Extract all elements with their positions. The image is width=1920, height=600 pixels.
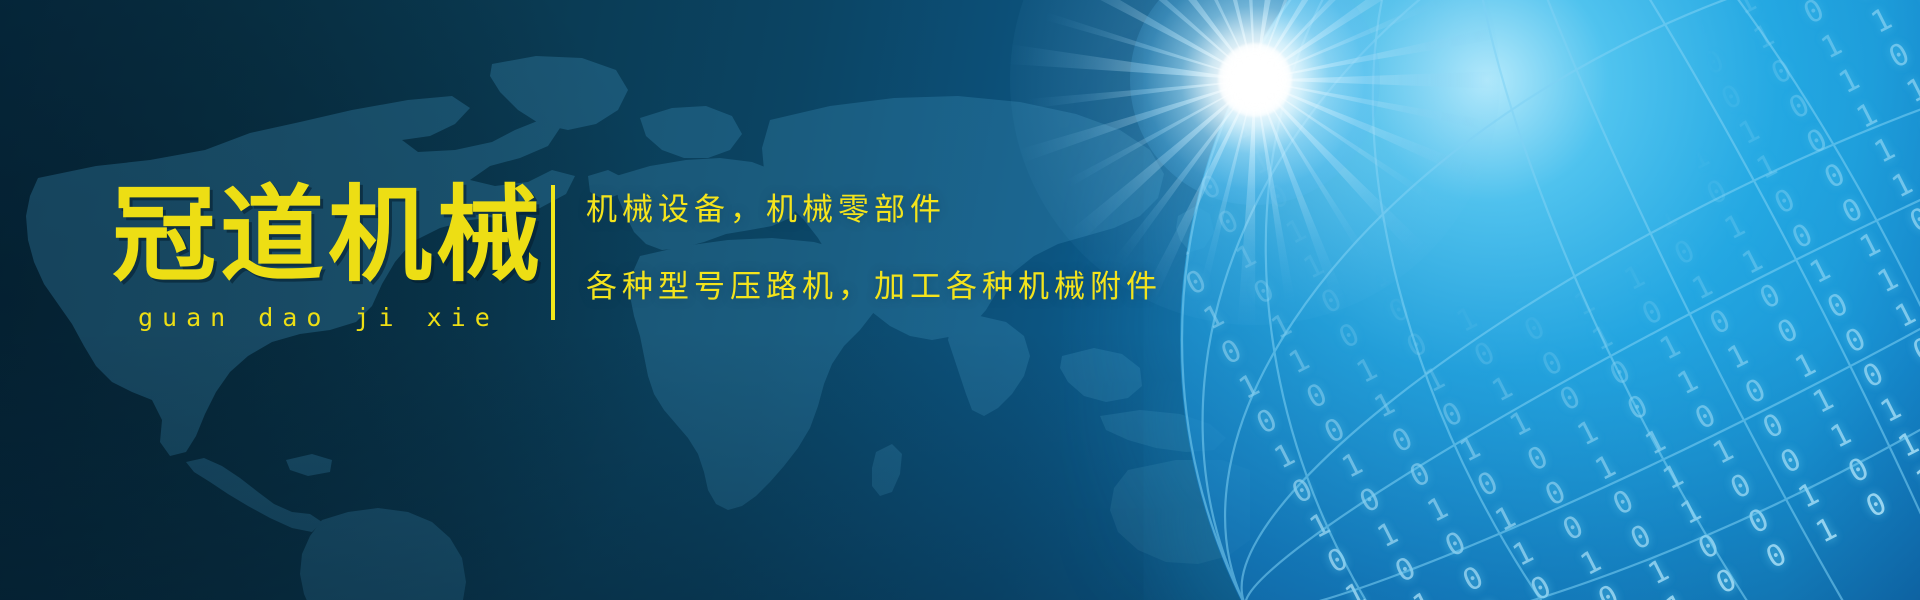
vertical-divider bbox=[551, 185, 555, 320]
logo-company-name-cn: 冠道机械 bbox=[112, 183, 572, 287]
tagline-group: 机械设备，机械零部件 各种型号压路机，加工各种机械附件 bbox=[586, 195, 1162, 303]
logo-company-name-pinyin: guan dao ji xie bbox=[138, 303, 572, 332]
company-logo[interactable]: 冠道机械 guan dao ji xie bbox=[112, 183, 572, 332]
promo-banner: 0 1 0 0 1 0 1 1 0 0 1 0 1 0 0 1 1 0 1 0 … bbox=[0, 0, 1920, 600]
tagline-line-2: 各种型号压路机，加工各种机械附件 bbox=[586, 272, 1162, 303]
banner-content: 冠道机械 guan dao ji xie 机械设备，机械零部件 各种型号压路机，… bbox=[0, 0, 1920, 600]
tagline-line-1: 机械设备，机械零部件 bbox=[586, 195, 1162, 226]
